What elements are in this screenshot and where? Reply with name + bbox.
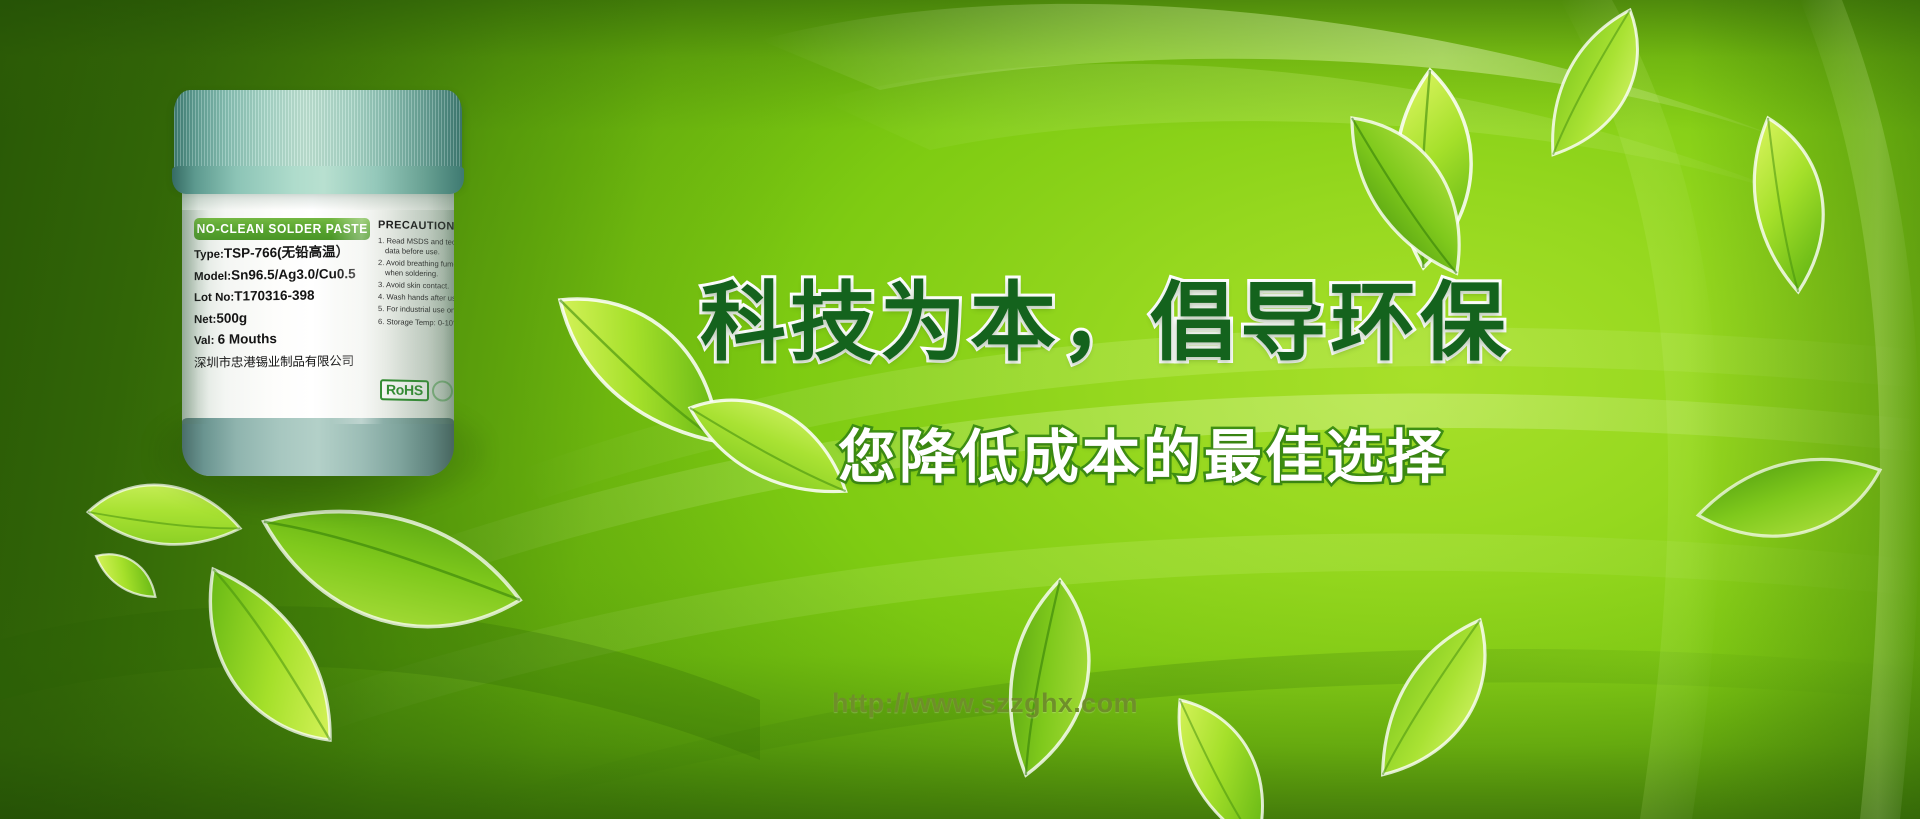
certification-circle-icon <box>432 380 453 401</box>
precaution-number: 2. <box>378 258 384 267</box>
label-key-val: Val: <box>194 335 218 347</box>
label-row-val: Val: 6 Mouths <box>194 331 370 348</box>
label-key-net: Net: <box>194 313 216 325</box>
precaution-number: 1. <box>378 236 384 245</box>
product-label: NO-CLEAN SOLDER PASTE Type:TSP-766(无铅高温）… <box>182 210 454 424</box>
precaution-item: 5. For industrial use only. <box>378 304 454 316</box>
jar-base <box>182 418 454 476</box>
label-value-type: TSP-766(无铅高温） <box>224 244 349 261</box>
solder-paste-jar: NO-CLEAN SOLDER PASTE Type:TSP-766(无铅高温）… <box>168 88 468 488</box>
product-label-precautions: PRECAUTIONS 1. Read MSDS and technical d… <box>378 219 454 331</box>
label-value-val: 6 Mouths <box>218 331 277 347</box>
precaution-text-cont: when soldering. <box>378 268 454 280</box>
precaution-text-cont: data before use. <box>378 246 454 258</box>
precaution-text: Avoid skin contact. <box>386 280 449 290</box>
precaution-number: 4. <box>378 292 384 301</box>
product-label-main: NO-CLEAN SOLDER PASTE Type:TSP-766(无铅高温）… <box>192 214 370 375</box>
rohs-badge: RoHS <box>380 379 453 402</box>
precaution-text: Wash hands after use. <box>386 292 454 303</box>
label-value-lot: T170316-398 <box>234 288 314 304</box>
label-row-model: Model:Sn96.5/Ag3.0/Cu0.5 <box>194 266 370 283</box>
label-key-lot: Lot No: <box>194 292 234 304</box>
precaution-number: 6. <box>378 317 384 326</box>
precaution-number: 5. <box>378 304 384 313</box>
precaution-text: Storage Temp: 0-10°C <box>386 317 454 328</box>
precaution-item: 4. Wash hands after use. <box>378 292 454 304</box>
precaution-number: 3. <box>378 280 384 289</box>
precaution-item: 1. Read MSDS and technical data before u… <box>378 236 454 257</box>
website-url: http://www.szzghx.com <box>832 688 1138 719</box>
label-value-model: Sn96.5/Ag3.0/Cu0.5 <box>231 266 356 283</box>
promo-banner: NO-CLEAN SOLDER PASTE Type:TSP-766(无铅高温）… <box>0 0 1920 819</box>
precaution-item: 3. Avoid skin contact. <box>378 280 454 292</box>
label-key-type: Type: <box>194 249 224 261</box>
precaution-item: 6. Storage Temp: 0-10°C <box>378 317 454 329</box>
label-row-lot: Lot No:T170316-398 <box>194 288 370 305</box>
precaution-item: 2. Avoid breathing fumes when soldering. <box>378 258 454 279</box>
label-row-type: Type:TSP-766(无铅高温） <box>194 245 370 262</box>
product-label-band-text: NO-CLEAN SOLDER PASTE <box>196 222 367 236</box>
precautions-title: PRECAUTIONS <box>378 219 454 233</box>
product-label-band: NO-CLEAN SOLDER PASTE <box>194 218 370 240</box>
label-row-net: Net:500g <box>194 309 370 326</box>
rohs-label: RoHS <box>380 379 429 401</box>
precaution-text: For industrial use only. <box>386 305 454 316</box>
label-key-model: Model: <box>194 270 231 282</box>
jar-lid-rim <box>172 166 464 194</box>
label-company-name: 深圳市忠港锡业制品有限公司 <box>194 354 370 369</box>
banner-subheadline: 您降低成本的最佳选择 <box>838 410 1448 494</box>
banner-headline: 科技为本，倡导环保 <box>700 252 1510 377</box>
label-value-net: 500g <box>216 310 247 325</box>
precaution-text: Avoid breathing fumes <box>386 258 454 269</box>
